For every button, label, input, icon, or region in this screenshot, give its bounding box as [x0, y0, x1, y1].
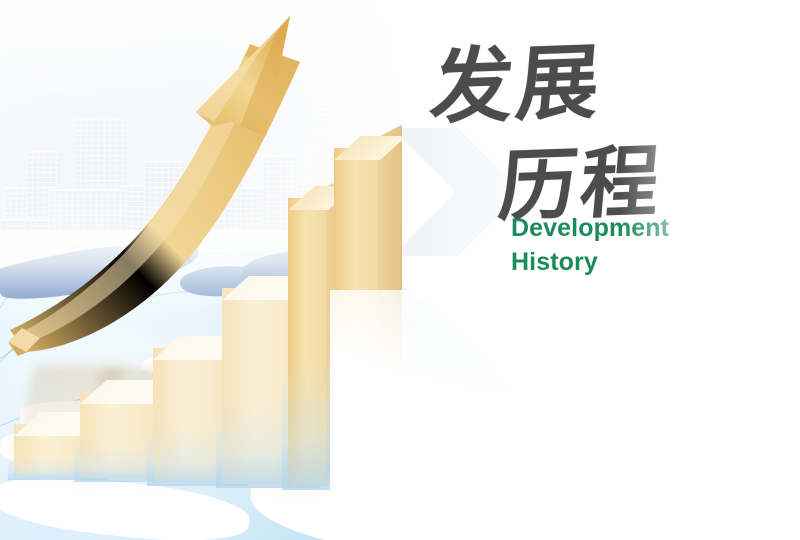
english-title-line2: History [511, 245, 761, 279]
english-title-line1: Development [511, 211, 761, 245]
development-history-banner: 发展 历程 Development History [0, 0, 800, 540]
bar-base-fade [282, 358, 334, 490]
growth-arrow-icon [0, 0, 400, 360]
english-title: Development History [511, 211, 761, 279]
